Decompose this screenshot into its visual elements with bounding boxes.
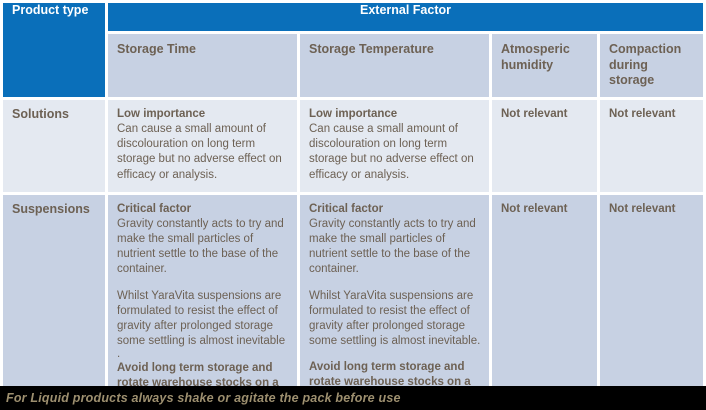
row-solutions-atmospheric-humidity: Not relevant [492,100,597,192]
table-row: Suspensions Critical factor Gravity cons… [3,195,703,410]
row-suspensions-storage-time-heading: Critical factor [117,202,289,217]
row-solutions-storage-time-content: Low importance Can cause a small amount … [108,100,297,192]
row-solutions-storage-temperature-heading: Low importance [309,107,481,122]
header-col-compaction-during-storage: Compaction during storage [600,34,703,97]
row-suspensions-atmospheric-humidity: Not relevant [492,195,597,410]
row-suspensions-storage-temperature: Critical factor Gravity constantly acts … [300,195,489,410]
storage-factor-table-wrapper: Product type External Factor Storage Tim… [0,0,703,384]
row-solutions-storage-temperature-content: Low importance Can cause a small amount … [300,100,489,192]
table-row: Solutions Low importance Can cause a sma… [3,100,703,192]
row-suspensions-storage-temperature-body-1: Gravity constantly acts to try and make … [309,217,481,278]
row-solutions-atmospheric-humidity-value: Not relevant [492,100,597,131]
row-solutions-product-type: Solutions [3,100,105,192]
row-suspensions-compaction-value: Not relevant [600,195,703,226]
header-col-compaction-during-storage-label: Compaction during storage [600,34,703,97]
row-suspensions-storage-time-body-2-trailing: . [117,349,289,361]
factor-table-page: Product type External Factor Storage Tim… [0,0,706,410]
footer-note-bar: For Liquid products always shake or agit… [0,386,706,410]
row-solutions-storage-time-body: Can cause a small amount of discolourati… [117,122,289,183]
row-solutions-storage-time-heading: Low importance [117,107,289,122]
paragraph-spacer [117,278,289,289]
header-col-atmospheric-humidity-label: Atmosperic humidity [492,34,597,81]
row-suspensions-storage-temperature-body-2: Whilst YaraVita suspensions are formulat… [309,289,481,350]
header-col-storage-time-label: Storage Time [108,34,297,66]
row-solutions-compaction-during-storage: Not relevant [600,100,703,192]
row-suspensions-product-type: Suspensions [3,195,105,410]
row-suspensions-storage-time-body-2: Whilst YaraVita suspensions are formulat… [117,289,289,350]
row-suspensions-storage-temperature-content: Critical factor Gravity constantly acts … [300,195,489,410]
row-solutions-label: Solutions [3,100,105,131]
row-suspensions-storage-temperature-heading: Critical factor [309,202,481,217]
header-external-factor-label: External Factor [108,3,703,17]
header-col-storage-time: Storage Time [108,34,297,97]
row-suspensions-compaction-during-storage: Not relevant [600,195,703,410]
row-suspensions-storage-time-content: Critical factor Gravity constantly acts … [108,195,297,410]
row-suspensions-label: Suspensions [3,195,105,226]
row-suspensions-storage-time: Critical factor Gravity constantly acts … [108,195,297,410]
storage-factor-table: Product type External Factor Storage Tim… [0,0,706,410]
footer-note-text: For Liquid products always shake or agit… [0,391,401,405]
row-solutions-storage-temperature: Low importance Can cause a small amount … [300,100,489,192]
row-suspensions-storage-time-body-1: Gravity constantly acts to try and make … [117,217,289,278]
header-col-storage-temperature: Storage Temperature [300,34,489,97]
header-product-type-label: Product type [3,3,105,17]
row-solutions-storage-time: Low importance Can cause a small amount … [108,100,297,192]
paragraph-spacer [309,278,481,289]
row-solutions-storage-temperature-body: Can cause a small amount of discolourati… [309,122,481,183]
header-external-factor: External Factor [108,3,703,31]
row-solutions-compaction-value: Not relevant [600,100,703,131]
header-col-atmospheric-humidity: Atmosperic humidity [492,34,597,97]
header-product-type: Product type [3,3,105,97]
paragraph-spacer [309,349,481,360]
table-header-row-columns: Storage Time Storage Temperature Atmospe… [3,34,703,97]
table-header-row-top: Product type External Factor [3,3,703,31]
header-col-storage-temperature-label: Storage Temperature [300,34,489,66]
row-suspensions-atmospheric-humidity-value: Not relevant [492,195,597,226]
